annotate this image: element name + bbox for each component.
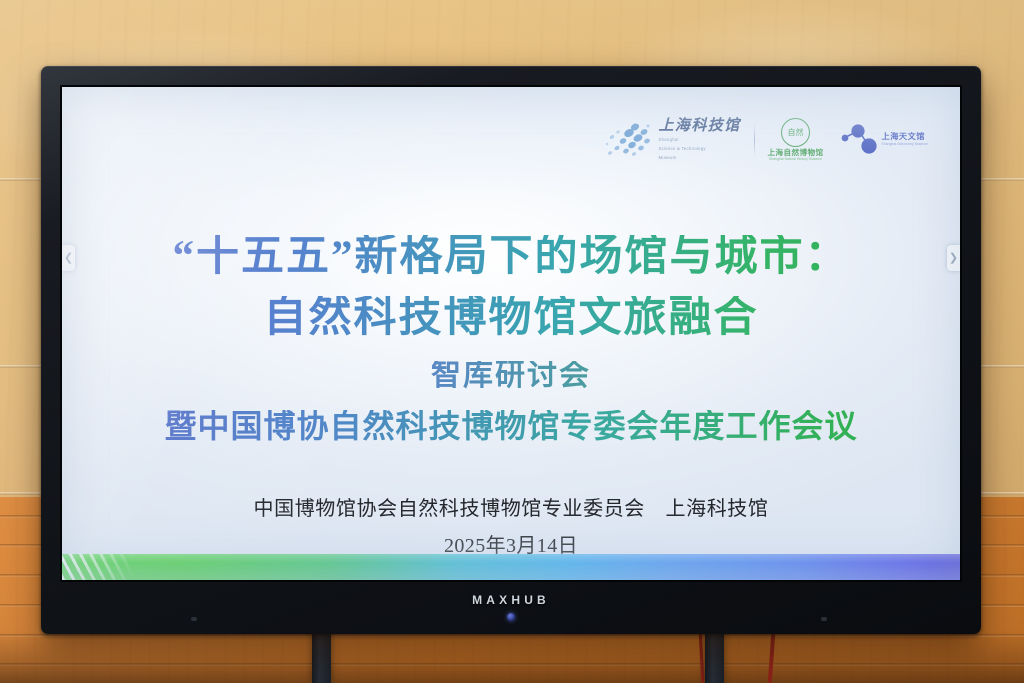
nhm-name-cn: 上海自然博物馆 [768, 149, 824, 157]
stm-name-en-line3: Museum [659, 155, 741, 161]
stand-leg-left [312, 627, 331, 683]
maxhub-brand-label: MAXHUB [41, 593, 981, 607]
logo-divider [754, 123, 755, 157]
stm-name-en-line1: Shanghai [659, 137, 741, 143]
stm-name-cn: 上海科技馆 [659, 119, 741, 134]
nhm-seal-icon: 自然 [781, 118, 810, 147]
logo-shanghai-science-technology-museum: 上海科技馆 Shanghai Science & Technology Muse… [604, 119, 741, 162]
stm-dot-cluster-icon [604, 120, 654, 160]
ir-sensor-left [191, 617, 197, 621]
screen-side-handle-right[interactable]: ❯ [947, 245, 960, 271]
stand-leg-right [705, 627, 724, 683]
slide-accent-bar [62, 554, 960, 580]
logo-shanghai-natural-history-museum: 自然 上海自然博物馆 Shanghai Natural History Muse… [768, 118, 824, 161]
display-screen[interactable]: 上海科技馆 Shanghai Science & Technology Muse… [62, 87, 960, 580]
power-indicator-led[interactable] [507, 613, 515, 621]
slide-event-date: 2025年3月14日 [62, 536, 960, 556]
floor-shadow [0, 630, 1024, 683]
astronomy-name-cn: 上海天文馆 [882, 133, 928, 141]
nhm-name-en: Shanghai Natural History Museum [769, 158, 822, 161]
slide-title-line-2: 自然科技博物馆文旅融合 [62, 296, 960, 339]
accent-bar-sheen [62, 554, 960, 563]
slide-title-line-1: “十五五”新格局下的场馆与城市： [62, 235, 960, 278]
sponsor-logo-bar: 上海科技馆 Shanghai Science & Technology Muse… [604, 116, 928, 164]
accent-bar-stripes [62, 554, 134, 580]
slide-subtitle-line-2: 暨中国博协自然科技博物馆专委会年度工作会议 [62, 410, 960, 442]
screen-side-handle-left[interactable]: ❮ [62, 245, 75, 271]
slide-organizers: 中国博物馆协会自然科技博物馆专业委员会 上海科技馆 [62, 499, 960, 519]
astronomy-logo-text: 上海天文馆 Shanghai Astronomy Museum [882, 133, 928, 147]
stm-logo-text: 上海科技馆 Shanghai Science & Technology Muse… [659, 119, 741, 162]
stm-name-en-line2: Science & Technology [659, 146, 741, 152]
astronomy-name-en: Shanghai Astronomy Museum [882, 143, 928, 146]
astronomy-node-graph-icon [837, 123, 879, 157]
ir-sensor-right [821, 617, 827, 621]
logo-shanghai-astronomy-museum: 上海天文馆 Shanghai Astronomy Museum [837, 123, 928, 157]
presentation-slide: 上海科技馆 Shanghai Science & Technology Muse… [62, 87, 960, 580]
slide-subtitle-line-1: 智库研讨会 [62, 361, 960, 391]
room-scene: MAXHUB [0, 0, 1024, 683]
maxhub-display[interactable]: MAXHUB [41, 66, 981, 634]
